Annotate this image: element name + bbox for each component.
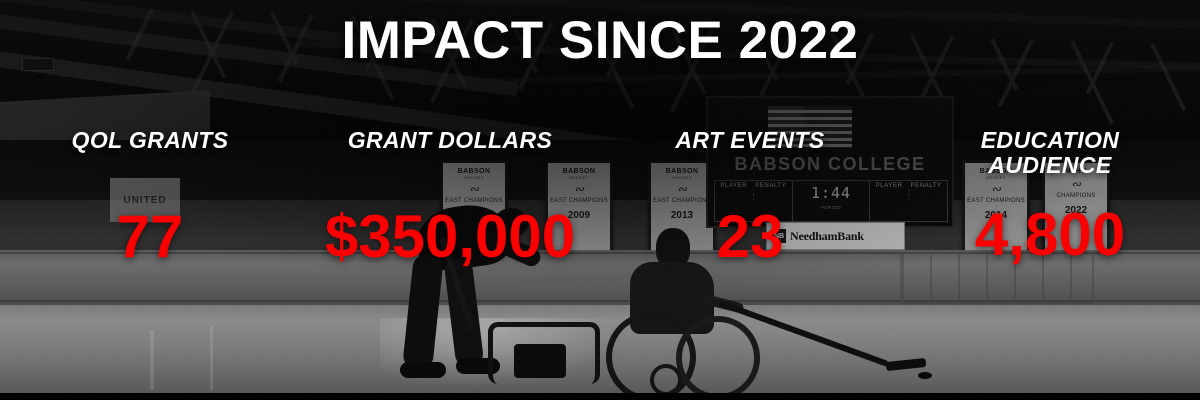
stat-label: QOL GRANTS <box>72 128 229 153</box>
stat-qol-grants: QOL GRANTS 77 <box>0 128 300 318</box>
stat-grant-dollars: GRANT DOLLARS $350,000 <box>300 128 600 318</box>
page-title: IMPACT SINCE 2022 <box>0 14 1200 67</box>
stat-label: GRANT DOLLARS <box>348 128 553 153</box>
impact-stats-banner: UNITED BABSON HOCKEY ∾ EAST CHAMPIONS 20… <box>0 0 1200 400</box>
stat-value: 4,800 <box>975 205 1125 265</box>
stat-value: 23 <box>717 207 784 267</box>
stat-art-events: ART EVENTS 23 <box>600 128 900 318</box>
stat-value: $350,000 <box>325 207 575 267</box>
stat-education-audience: EDUCATION AUDIENCE 4,800 <box>900 128 1200 318</box>
stat-label: ART EVENTS <box>675 128 824 153</box>
stat-label: EDUCATION AUDIENCE <box>981 128 1120 178</box>
stats-row: QOL GRANTS 77 GRANT DOLLARS $350,000 ART… <box>0 128 1200 318</box>
stat-value: 77 <box>117 207 184 267</box>
text-overlay: IMPACT SINCE 2022 QOL GRANTS 77 GRANT DO… <box>0 0 1200 400</box>
